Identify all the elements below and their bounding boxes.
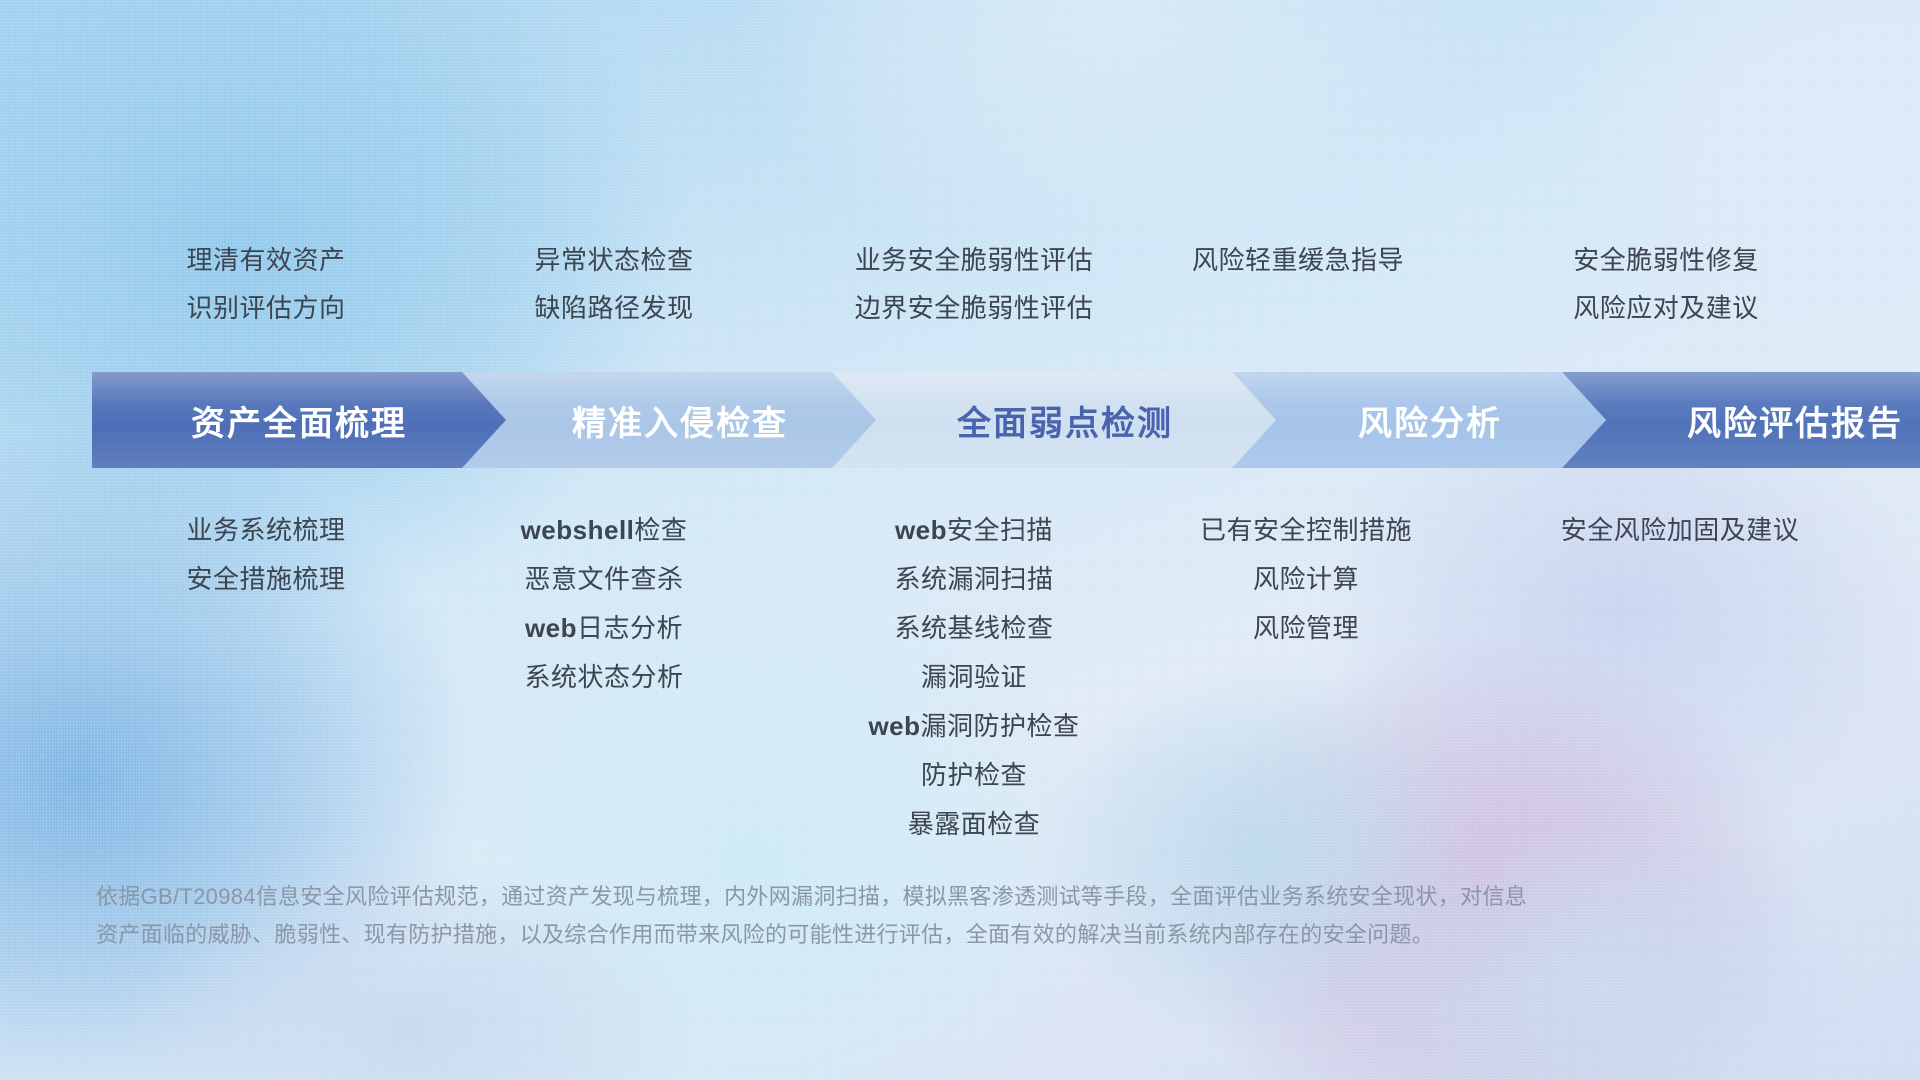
footer-line-1: 依据GB/T20984信息安全风险评估规范，通过资产发现与梳理，内外网漏洞扫描，…	[96, 878, 1676, 916]
top-item: 理清有效资产	[92, 236, 440, 284]
stage-title: 精准入侵检查	[572, 396, 788, 445]
top-item: 风险应对及建议	[1480, 284, 1852, 332]
stage-title: 风险分析	[1358, 396, 1502, 445]
bottom-item: 系统状态分析	[430, 653, 778, 702]
bottom-item: 风险计算	[1124, 555, 1488, 604]
top-items-intrusion-check: 异常状态检查缺陷路径发现	[440, 236, 788, 332]
top-items-asset-inventory: 理清有效资产识别评估方向	[92, 236, 440, 332]
footer-description: 依据GB/T20984信息安全风险评估规范，通过资产发现与梳理，内外网漏洞扫描，…	[96, 878, 1676, 954]
top-item: 边界安全脆弱性评估	[768, 284, 1180, 332]
bottom-item: 防护检查	[768, 751, 1180, 800]
bottom-item: 安全措施梳理	[92, 555, 440, 604]
bottom-item: 系统漏洞扫描	[768, 555, 1180, 604]
top-items-risk-report: 安全脆弱性修复风险应对及建议	[1480, 236, 1852, 332]
bottom-item: 暴露面检查	[768, 800, 1180, 849]
bottom-item: 已有安全控制措施	[1124, 506, 1488, 555]
process-stage-weakness-detection[interactable]: 全面弱点检测	[832, 372, 1276, 468]
bottom-item: 业务系统梳理	[92, 506, 440, 555]
bottom-item: 风险管理	[1124, 604, 1488, 653]
bottom-item: webshell检查	[430, 506, 778, 555]
latin-token: web	[868, 711, 920, 741]
latin-token: webshell	[521, 515, 635, 545]
bottom-items-risk-report: 安全风险加固及建议	[1480, 506, 1880, 555]
process-stage-asset-inventory[interactable]: 资产全面梳理	[92, 372, 506, 468]
stage-title: 全面弱点检测	[957, 396, 1173, 445]
bottom-item: web日志分析	[430, 604, 778, 653]
bottom-items-risk-analysis: 已有安全控制措施风险计算风险管理	[1124, 506, 1488, 653]
bottom-item: 漏洞验证	[768, 653, 1180, 702]
footer-line-2: 资产面临的威胁、脆弱性、现有防护措施，以及综合作用而带来风险的可能性进行评估，全…	[96, 916, 1676, 954]
bottom-item: 恶意文件查杀	[430, 555, 778, 604]
bottom-item: 安全风险加固及建议	[1480, 506, 1880, 555]
bottom-items-asset-inventory: 业务系统梳理安全措施梳理	[92, 506, 440, 604]
top-items-risk-analysis: 风险轻重缓急指导	[1116, 236, 1480, 284]
stage-title: 资产全面梳理	[191, 396, 407, 445]
bottom-item: 系统基线检查	[768, 604, 1180, 653]
top-item: 异常状态检查	[440, 236, 788, 284]
latin-token: web	[525, 613, 577, 643]
bottom-items-weakness-detection: web安全扫描系统漏洞扫描系统基线检查漏洞验证web漏洞防护检查防护检查暴露面检…	[768, 506, 1180, 849]
top-item: 安全脆弱性修复	[1480, 236, 1852, 284]
latin-token: web	[895, 515, 947, 545]
process-stage-risk-report[interactable]: 风险评估报告	[1562, 372, 1920, 468]
process-stage-risk-analysis[interactable]: 风险分析	[1232, 372, 1606, 468]
process-diagram: 理清有效资产识别评估方向 异常状态检查缺陷路径发现 业务安全脆弱性评估边界安全脆…	[0, 0, 1920, 1080]
top-item: 风险轻重缓急指导	[1116, 236, 1480, 284]
process-arrow-banner: 资产全面梳理精准入侵检查全面弱点检测风险分析风险评估报告	[92, 372, 1852, 468]
bottom-item: web安全扫描	[768, 506, 1180, 555]
process-stage-intrusion-check[interactable]: 精准入侵检查	[462, 372, 876, 468]
bottom-item: web漏洞防护检查	[768, 702, 1180, 751]
stage-title: 风险评估报告	[1687, 396, 1903, 445]
bottom-items-intrusion-check: webshell检查恶意文件查杀web日志分析系统状态分析	[430, 506, 778, 702]
top-item: 缺陷路径发现	[440, 284, 788, 332]
top-item: 识别评估方向	[92, 284, 440, 332]
